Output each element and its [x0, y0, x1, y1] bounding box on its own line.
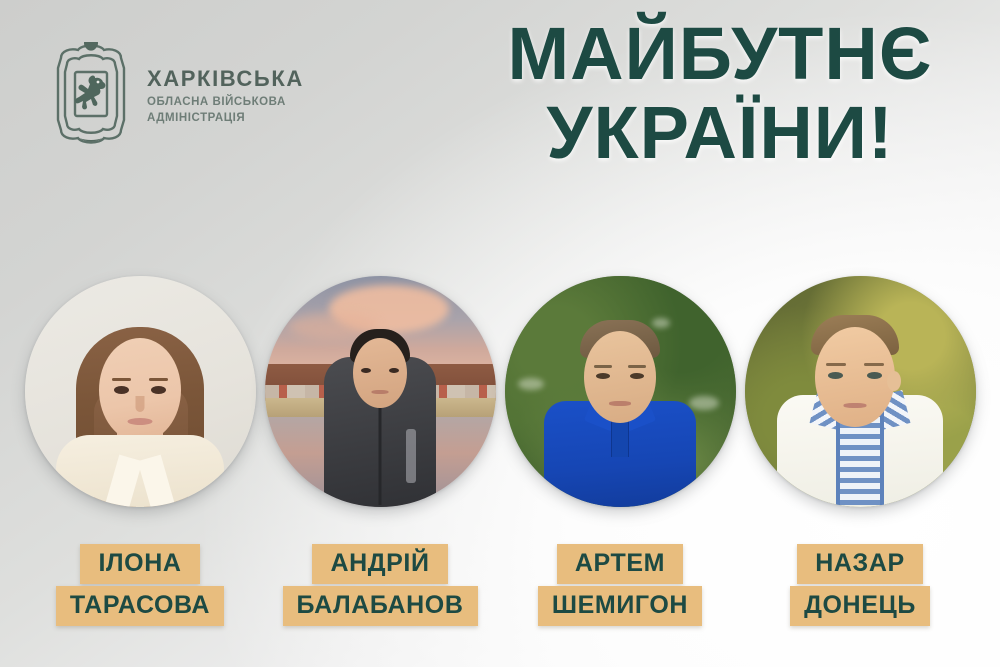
name-banner-andrii-balabanov: АНДРІЙ БАЛАБАНОВ	[265, 544, 496, 626]
last-name-label: ДОНЕЦЬ	[790, 586, 930, 626]
portrait-image-2	[265, 276, 496, 507]
logo-line-1: ХАРКІВСЬКА	[147, 68, 304, 90]
name-banner-row: ІЛОНА ТАРАСОВА АНДРІЙ БАЛАБАНОВ АРТЕМ ШЕ…	[0, 544, 1000, 626]
logo-line-2: ОБЛАСНА ВІЙСЬКОВА	[147, 97, 304, 109]
first-name-label: ІЛОНА	[80, 544, 199, 584]
portrait-image-1	[25, 276, 256, 507]
last-name-label: ШЕМИГОН	[538, 586, 702, 626]
portrait-photo-nazar-donets	[745, 276, 976, 507]
portrait-photo-ilona-tarasova	[25, 276, 256, 507]
first-name-label: АРТЕМ	[557, 544, 683, 584]
name-banner-nazar-donets: НАЗАР ДОНЕЦЬ	[745, 544, 976, 626]
headline-line-1: МАЙБУТНЄ	[470, 18, 970, 89]
first-name-label: НАЗАР	[797, 544, 923, 584]
headline: МАЙБУТНЄ УКРАЇНИ!	[470, 18, 970, 168]
portrait-image-4	[745, 276, 976, 507]
portrait-photo-andrii-balabanov	[265, 276, 496, 507]
name-banner-ilona-tarasova: ІЛОНА ТАРАСОВА	[25, 544, 256, 626]
administration-logo-text: ХАРКІВСЬКА ОБЛАСНА ВІЙСЬКОВА АДМІНІСТРАЦ…	[147, 64, 304, 125]
portrait-row	[0, 276, 1000, 516]
poster-canvas: ХАРКІВСЬКА ОБЛАСНА ВІЙСЬКОВА АДМІНІСТРАЦ…	[0, 0, 1000, 667]
administration-logo: ХАРКІВСЬКА ОБЛАСНА ВІЙСЬКОВА АДМІНІСТРАЦ…	[48, 42, 304, 146]
portrait-image-3	[505, 276, 736, 507]
last-name-label: ТАРАСОВА	[56, 586, 224, 626]
kharkiv-coat-of-arms-icon	[48, 42, 134, 146]
logo-line-3: АДМІНІСТРАЦІЯ	[147, 113, 304, 125]
portrait-photo-artem-shemyhon	[505, 276, 736, 507]
name-banner-artem-shemyhon: АРТЕМ ШЕМИГОН	[505, 544, 736, 626]
last-name-label: БАЛАБАНОВ	[283, 586, 478, 626]
headline-line-2: УКРАЇНИ!	[470, 97, 970, 168]
first-name-label: АНДРІЙ	[312, 544, 447, 584]
